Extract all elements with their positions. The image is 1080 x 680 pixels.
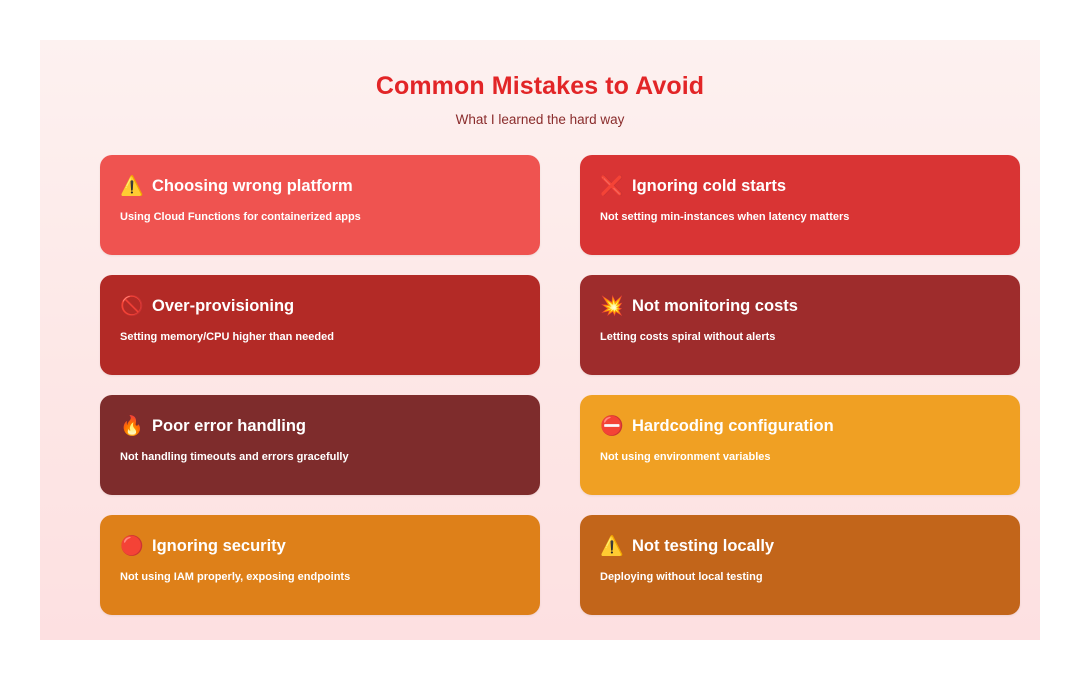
slide-panel: Common Mistakes to Avoid What I learned …: [40, 40, 1040, 640]
cross-mark-icon: ❌: [600, 177, 624, 196]
page-title: Common Mistakes to Avoid: [100, 62, 980, 101]
mistake-card[interactable]: ⛔Hardcoding configurationNot using envir…: [580, 395, 1020, 495]
mistake-card-title: Not testing locally: [632, 537, 774, 555]
mistake-card[interactable]: ⚠️Choosing wrong platformUsing Cloud Fun…: [100, 155, 540, 255]
mistake-card-description: Deploying without local testing: [600, 571, 1000, 584]
mistake-card-title: Ignoring security: [152, 537, 286, 555]
page-subtitle: What I learned the hard way: [100, 101, 980, 128]
mistake-card-header: 🚫Over-provisioning: [120, 293, 520, 319]
red-circle-icon: 🔴: [120, 537, 144, 556]
mistakes-grid: ⚠️Choosing wrong platformUsing Cloud Fun…: [100, 155, 980, 615]
mistake-card-header: ❌Ignoring cold starts: [600, 173, 1000, 199]
mistake-card[interactable]: ❌Ignoring cold startsNot setting min-ins…: [580, 155, 1020, 255]
mistake-card-header: ⚠️Not testing locally: [600, 533, 1000, 559]
mistake-card[interactable]: 🔥Poor error handlingNot handling timeout…: [100, 395, 540, 495]
prohibited-sign-icon: 🚫: [120, 297, 144, 316]
mistake-card-description: Not using environment variables: [600, 451, 1000, 464]
mistake-card-description: Not using IAM properly, exposing endpoin…: [120, 571, 520, 584]
mistake-card-title: Not monitoring costs: [632, 297, 798, 315]
warning-triangle-icon: ⚠️: [600, 537, 624, 556]
warning-triangle-icon: ⚠️: [120, 177, 144, 196]
collision-burst-icon: 💥: [600, 297, 624, 316]
mistake-card-header: ⚠️Choosing wrong platform: [120, 173, 520, 199]
mistake-card[interactable]: 🔴Ignoring securityNot using IAM properly…: [100, 515, 540, 615]
mistake-card-title: Ignoring cold starts: [632, 177, 786, 195]
mistake-card-description: Not handling timeouts and errors gracefu…: [120, 451, 520, 464]
mistake-card-header: 💥Not monitoring costs: [600, 293, 1000, 319]
mistake-card[interactable]: ⚠️Not testing locallyDeploying without l…: [580, 515, 1020, 615]
mistake-card-header: ⛔Hardcoding configuration: [600, 413, 1000, 439]
mistake-card[interactable]: 🚫Over-provisioningSetting memory/CPU hig…: [100, 275, 540, 375]
mistake-card-title: Hardcoding configuration: [632, 417, 834, 435]
mistake-card-header: 🔥Poor error handling: [120, 413, 520, 439]
mistake-card-title: Poor error handling: [152, 417, 306, 435]
mistake-card-description: Setting memory/CPU higher than needed: [120, 331, 520, 344]
mistake-card[interactable]: 💥Not monitoring costsLetting costs spira…: [580, 275, 1020, 375]
mistake-card-description: Letting costs spiral without alerts: [600, 331, 1000, 344]
mistake-card-title: Choosing wrong platform: [152, 177, 353, 195]
no-entry-icon: ⛔: [600, 417, 624, 436]
fire-icon: 🔥: [120, 417, 144, 436]
mistake-card-header: 🔴Ignoring security: [120, 533, 520, 559]
mistake-card-description: Using Cloud Functions for containerized …: [120, 211, 520, 224]
mistake-card-title: Over-provisioning: [152, 297, 294, 315]
mistake-card-description: Not setting min-instances when latency m…: [600, 211, 1000, 224]
